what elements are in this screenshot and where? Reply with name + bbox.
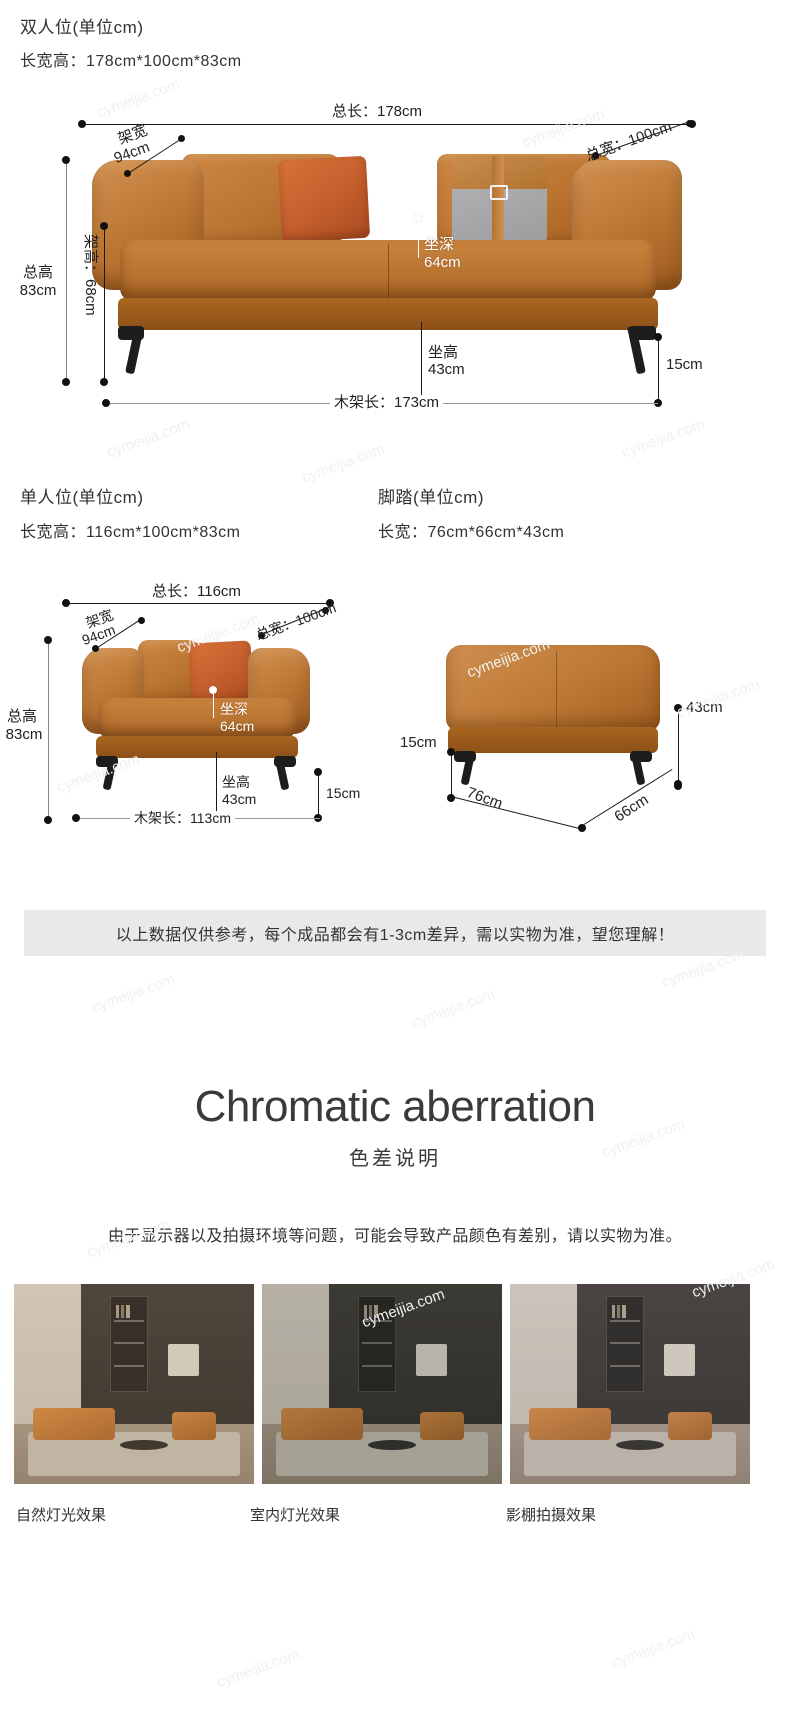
total-height-dot-top (62, 156, 70, 164)
leg-height-dot-top (654, 333, 662, 341)
total-height-label: 总高 (14, 265, 62, 282)
single-total-height-value: 83cm (0, 727, 48, 744)
notice-text: 以上数据仅供参考，每个成品都会有1-3cm差异，需以实物为准，望您理解！ (116, 921, 674, 945)
room-caption-natural: 自然灯光效果 (16, 1504, 106, 1525)
total-height-line (66, 160, 67, 382)
single-leg-dot-top (314, 768, 322, 776)
single-seat-depth-value: 64cm (220, 719, 254, 735)
single-total-height-dot-top (44, 636, 52, 644)
two-seater-illustration (92, 140, 682, 385)
ottoman-leg-line (451, 752, 452, 798)
ottoman-illustration (428, 645, 678, 795)
room-sample-natural (14, 1284, 254, 1484)
ottoman-leg-height-label: 15cm (400, 735, 437, 752)
ottoman-leg-dot-top (447, 748, 455, 756)
seat-height-label: 坐高 (428, 345, 458, 362)
single-seater-subtitle: 长宽高：116cm*100cm*83cm (20, 518, 240, 542)
two-seater-title: 双人位(单位cm) (20, 13, 143, 38)
room-caption-studio: 影棚拍摄效果 (506, 1504, 596, 1525)
frame-width-dot-b (178, 135, 185, 142)
frame-height-label: 架高：68cm (81, 234, 98, 316)
seat-depth-label: 坐深 (424, 237, 454, 254)
single-frame-width-dot-b (138, 617, 145, 624)
room-sample-studio (510, 1284, 750, 1484)
single-seater-title: 单人位(单位cm) (20, 483, 143, 508)
watermark: cymeijia.com (95, 76, 182, 122)
seat-height-value: 43cm (428, 362, 465, 379)
single-total-height-label: 总高 (0, 709, 44, 726)
two-seater-subtitle: 长宽高：178cm*100cm*83cm (20, 47, 242, 71)
chromatic-title-en: Chromatic aberration (0, 1082, 790, 1132)
frame-height-line (104, 226, 105, 382)
single-seat-depth-dot (209, 686, 217, 694)
single-seat-height-label: 坐高 (222, 775, 250, 791)
ottoman-title: 脚踏(单位cm) (378, 483, 484, 508)
single-total-length-line (66, 603, 332, 604)
chromatic-title-cn: 色差说明 (0, 1142, 790, 1171)
single-seat-depth-label: 坐深 (220, 702, 248, 718)
single-leg-height-label: 15cm (326, 786, 360, 802)
total-length-dot-left (78, 120, 86, 128)
room-sample-indoor (262, 1284, 502, 1484)
single-total-height-line (48, 640, 49, 820)
seat-depth-value: 64cm (424, 255, 461, 272)
orange-accent-pillow (278, 156, 370, 242)
frame-height-dot-bottom (100, 378, 108, 386)
grey-buckle-pillow (452, 156, 547, 242)
single-wood-frame-label: 木架长：113cm (130, 811, 235, 827)
total-length-label: 总长：178cm (332, 104, 422, 121)
watermark: cymeijia.com (105, 416, 192, 462)
seat-depth-dot (414, 214, 422, 222)
single-seat-depth-leader (213, 690, 214, 718)
seat-depth-leader (418, 218, 419, 258)
watermark: cymeijia.com (410, 986, 497, 1032)
leg-height-label: 15cm (666, 357, 703, 374)
frame-width-dot-a (124, 170, 131, 177)
seat-height-line (421, 322, 422, 404)
ottoman-height-label: 43cm (686, 700, 723, 717)
single-total-height-dot-bottom (44, 816, 52, 824)
frame-height-dot-top (100, 222, 108, 230)
ottoman-length-dot (578, 824, 586, 832)
single-frame-width-dot-a (92, 645, 99, 652)
chromatic-description: 由于显示器以及拍摄环境等问题，可能会导致产品颜色有差别，请以实物为准。 (0, 1222, 790, 1246)
notice-bar: 以上数据仅供参考，每个成品都会有1-3cm差异，需以实物为准，望您理解！ (24, 910, 766, 956)
total-height-value: 83cm (10, 283, 66, 300)
total-length-line (82, 124, 694, 125)
single-seat-height-value: 43cm (222, 792, 256, 808)
ottoman-height-line (678, 708, 679, 786)
ottoman-width-dot (674, 780, 682, 788)
ottoman-height-dot-top (674, 704, 682, 712)
watermark: cymeijia.com (300, 441, 387, 487)
room-caption-indoor: 室内灯光效果 (250, 1504, 340, 1525)
leg-height-line (658, 337, 659, 403)
single-seat-height-line (216, 752, 217, 818)
watermark: cymeijia.com (90, 971, 177, 1017)
total-height-dot-bottom (62, 378, 70, 386)
single-seater-illustration (82, 630, 312, 802)
product-spec-page: cymeijia.comcymeijia.comcymeijia.comcyme… (0, 0, 790, 1714)
watermark: cymeijia.com (610, 1626, 697, 1672)
ottoman-subtitle: 长宽：76cm*66cm*43cm (378, 518, 564, 542)
single-leg-height-line (318, 772, 319, 818)
watermark: cymeijia.com (620, 416, 707, 462)
wood-frame-length-label: 木架长：173cm (330, 395, 443, 412)
total-width-dot-b (686, 120, 693, 127)
watermark: cymeijia.com (215, 1646, 302, 1692)
single-wood-frame-dot (72, 814, 80, 822)
ottoman-width-label: 66cm (612, 792, 652, 826)
wood-frame-dot-left (102, 399, 110, 407)
single-total-length-label: 总长：116cm (152, 584, 241, 601)
single-total-length-dot-left (62, 599, 70, 607)
